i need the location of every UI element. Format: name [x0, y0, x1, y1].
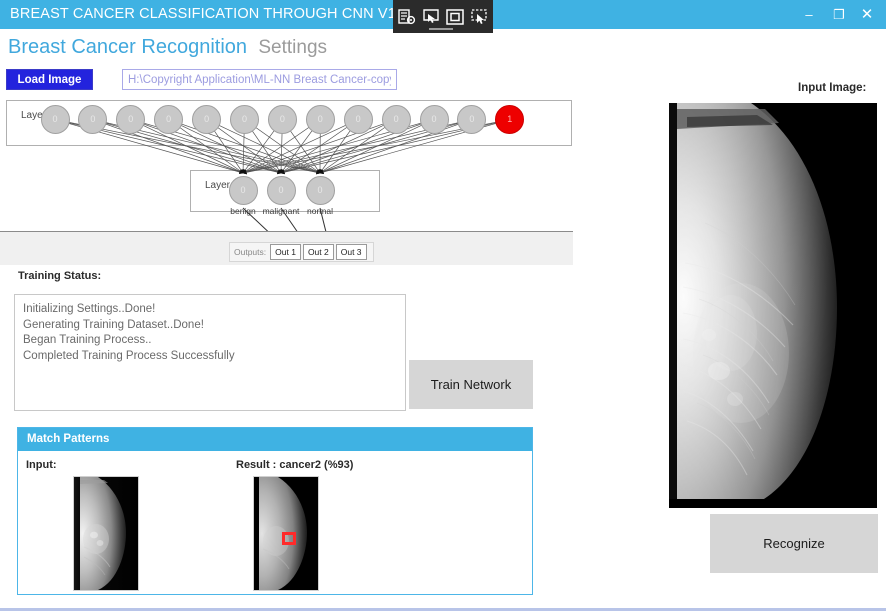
training-log[interactable]: Initializing Settings..Done! Generating …: [14, 294, 406, 411]
tumor-marker: [282, 532, 296, 545]
output-button-1[interactable]: Out 1: [270, 244, 301, 260]
log-line: Began Training Process..: [23, 333, 397, 349]
outputs-caption: Outputs:: [234, 247, 266, 257]
layer2-neuron-3: 0: [116, 105, 145, 134]
match-result-label: Result : cancer2 (%93): [236, 459, 353, 471]
log-line: Completed Training Process Successfully: [23, 349, 397, 365]
output-button-2[interactable]: Out 2: [303, 244, 334, 260]
layer3-neuron-1: 0: [229, 176, 258, 205]
layer2-neuron-10: 0: [382, 105, 411, 134]
train-network-button[interactable]: Train Network: [409, 360, 533, 409]
layer2-neuron-9: 0: [344, 105, 373, 134]
output-button-3[interactable]: Out 3: [336, 244, 367, 260]
layer2-neuron-4: 0: [154, 105, 183, 134]
layer3-neuron-3: 0: [306, 176, 335, 205]
layer2-neuron-13: 1: [495, 105, 524, 134]
layer3-neuron-2: 0: [267, 176, 296, 205]
log-line: Generating Training Dataset..Done!: [23, 318, 397, 334]
mammogram-thumbnail: [73, 476, 139, 591]
match-input-label: Input:: [26, 459, 57, 471]
layer2-neuron-8: 0: [306, 105, 335, 134]
input-image-label: Input Image:: [798, 82, 866, 94]
outputs-group: Outputs: Out 1 Out 2 Out 3: [229, 242, 374, 262]
training-status-label: Training Status:: [18, 270, 101, 282]
mammogram-result-thumbnail: [253, 476, 319, 591]
log-line: Initializing Settings..Done!: [23, 302, 397, 318]
match-patterns-panel: Match Patterns Input: Result : cancer2 (…: [17, 427, 533, 595]
layer2-neuron-7: 0: [268, 105, 297, 134]
mammogram-large-preview: [669, 103, 877, 508]
layer2-neuron-6: 0: [230, 105, 259, 134]
recognize-button[interactable]: Recognize: [710, 514, 878, 573]
layer2-neuron-11: 0: [420, 105, 449, 134]
layer2-neuron-1: 0: [41, 105, 70, 134]
layer2-neuron-12: 0: [457, 105, 486, 134]
layer2-neuron-2: 0: [78, 105, 107, 134]
match-patterns-title: Match Patterns: [18, 428, 532, 451]
layer2-neuron-5: 0: [192, 105, 221, 134]
layer3-neuron-label-normal: normal: [290, 206, 350, 216]
